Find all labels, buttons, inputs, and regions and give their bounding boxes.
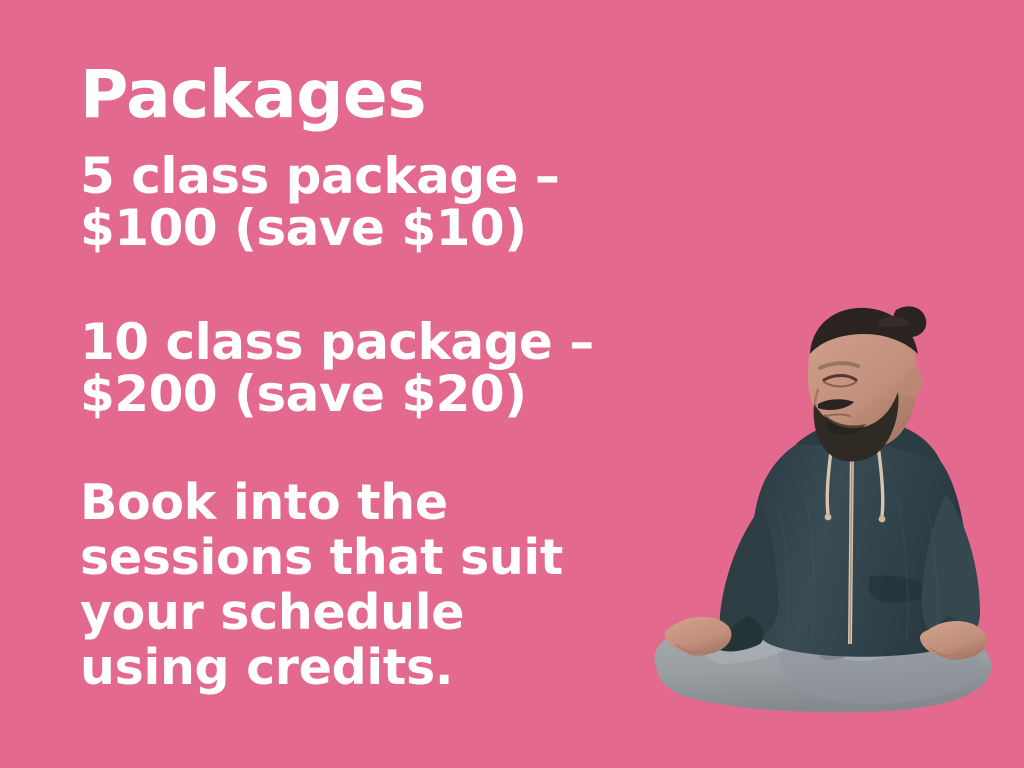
booking-description: Book into the sessions that suit your sc…: [80, 476, 700, 696]
package-option-10-class: 10 class package – $200 (save $20): [80, 316, 700, 420]
slide-canvas: Packages 5 class package – $100 (save $1…: [0, 0, 1024, 768]
package-option-5-class: 5 class package – $100 (save $10): [80, 150, 700, 254]
text-column: Packages 5 class package – $100 (save $1…: [80, 62, 700, 745]
page-title: Packages: [80, 62, 700, 128]
